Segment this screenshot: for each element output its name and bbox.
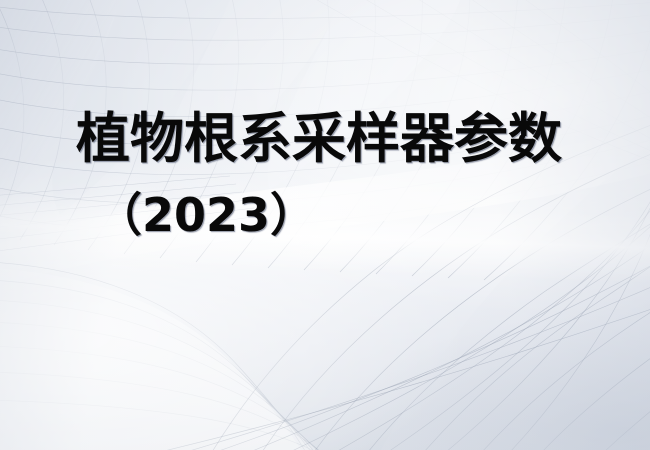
slide-title-main: 植物根系采样器参数 [0,112,650,166]
slide-title-year: （2023） [0,192,650,238]
title-slide: 植物根系采样器参数 （2023） [0,0,650,450]
slide-title-block: 植物根系采样器参数 （2023） [0,112,650,238]
